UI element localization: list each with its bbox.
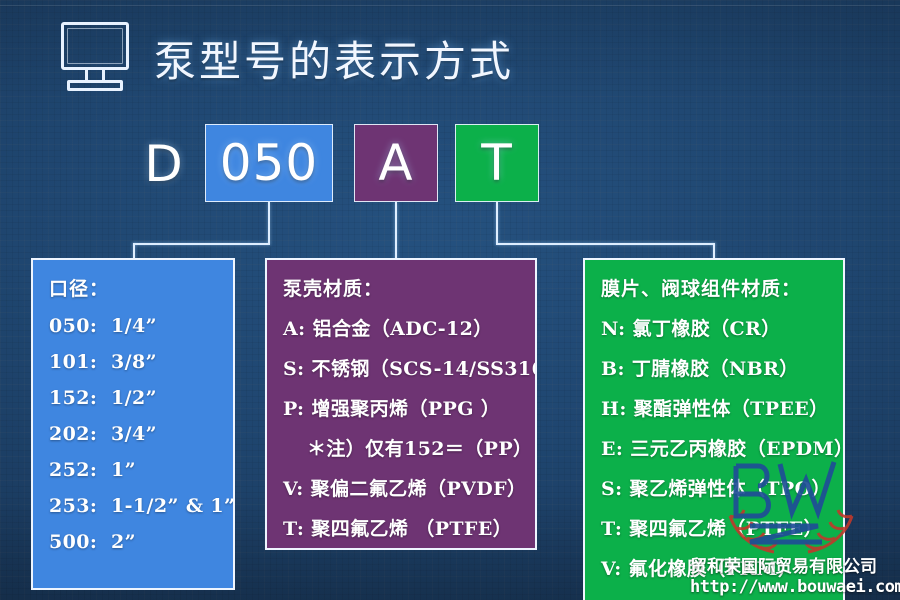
casing-row: S: 不锈钢（SCS-14/SS316） xyxy=(283,354,535,381)
bore-value: 1/4” xyxy=(111,315,157,337)
casing-row: V: 聚偏二氟乙烯（PVDF） xyxy=(283,474,535,501)
bore-row: 202:3/4” xyxy=(49,423,233,445)
connector-t-horizontal xyxy=(496,243,715,245)
diaphragm-row: H: 聚酯弹性体（TPEE） xyxy=(601,394,843,421)
diaphragm-row: T: 聚四氟乙烯（PTFE） xyxy=(601,514,843,541)
diaphragm-row: B: 丁腈橡胶（NBR） xyxy=(601,354,843,381)
code-cell-d[interactable]: D xyxy=(135,128,193,200)
diaphragm-row: V: 氟化橡胶（FKM） xyxy=(601,554,843,581)
panel-casing-title: 泵壳材质： xyxy=(283,274,535,301)
bore-value: 1/2” xyxy=(111,387,157,409)
bore-key: 101: xyxy=(49,351,111,373)
panel-diaphragm-title: 膜片、阀球组件材质： xyxy=(601,274,843,301)
bore-value: 3/8” xyxy=(111,351,157,373)
monitor-screen xyxy=(61,22,129,70)
casing-row: P: 增强聚丙烯（PPG ） xyxy=(283,394,535,421)
panel-casing-material: 泵壳材质： A: 铝合金（ADC-12） S: 不锈钢（SCS-14/SS316… xyxy=(265,258,537,550)
bore-value: 2” xyxy=(111,531,136,553)
casing-row-note: ＊注）仅有152＝（PP） xyxy=(283,434,535,461)
bore-row: 500:2” xyxy=(49,531,233,553)
bore-key: 500: xyxy=(49,531,111,553)
bore-value: 1-1/2” & 1” xyxy=(111,495,235,517)
monitor-icon xyxy=(58,22,132,94)
code-cell-a[interactable]: A xyxy=(354,124,438,202)
bore-row: 253:1-1/2” & 1” xyxy=(49,495,233,517)
diaphragm-row: N: 氯丁橡胶（CR） xyxy=(601,314,843,341)
connector-050-horizontal xyxy=(133,243,270,245)
bore-row: 152:1/2” xyxy=(49,387,233,409)
connector-a-vertical xyxy=(395,202,397,260)
header: 泵型号的表示方式 xyxy=(58,22,514,94)
diaphragm-row: E: 三元乙丙橡胶（EPDM） xyxy=(601,434,843,461)
connector-t-vertical-upper xyxy=(496,202,498,244)
bore-key: 252: xyxy=(49,459,111,481)
bore-key: 202: xyxy=(49,423,111,445)
panel-diaphragm-material: 膜片、阀球组件材质： N: 氯丁橡胶（CR） B: 丁腈橡胶（NBR） H: 聚… xyxy=(583,258,845,600)
connector-050-vertical-upper xyxy=(268,202,270,244)
bore-value: 1” xyxy=(111,459,136,481)
code-cell-t[interactable]: T xyxy=(455,124,539,202)
bore-key: 253: xyxy=(49,495,111,517)
bore-row: 101:3/8” xyxy=(49,351,233,373)
bore-key: 152: xyxy=(49,387,111,409)
casing-row: A: 铝合金（ADC-12） xyxy=(283,314,535,341)
page-title: 泵型号的表示方式 xyxy=(154,28,514,89)
diaphragm-row: S: 聚乙烯弹性体（TPO） xyxy=(601,474,843,501)
bore-key: 050: xyxy=(49,315,111,337)
bore-row: 050:1/4” xyxy=(49,315,233,337)
panel-bore: 口径： 050:1/4” 101:3/8” 152:1/2” 202:3/4” … xyxy=(31,258,235,590)
bore-row: 252:1” xyxy=(49,459,233,481)
code-cell-050[interactable]: 050 xyxy=(205,124,333,202)
bore-value: 3/4” xyxy=(111,423,157,445)
monitor-base xyxy=(67,80,123,91)
casing-row: T: 聚四氟乙烯 （PTFE） xyxy=(283,514,535,541)
panel-bore-title: 口径： xyxy=(49,274,233,301)
